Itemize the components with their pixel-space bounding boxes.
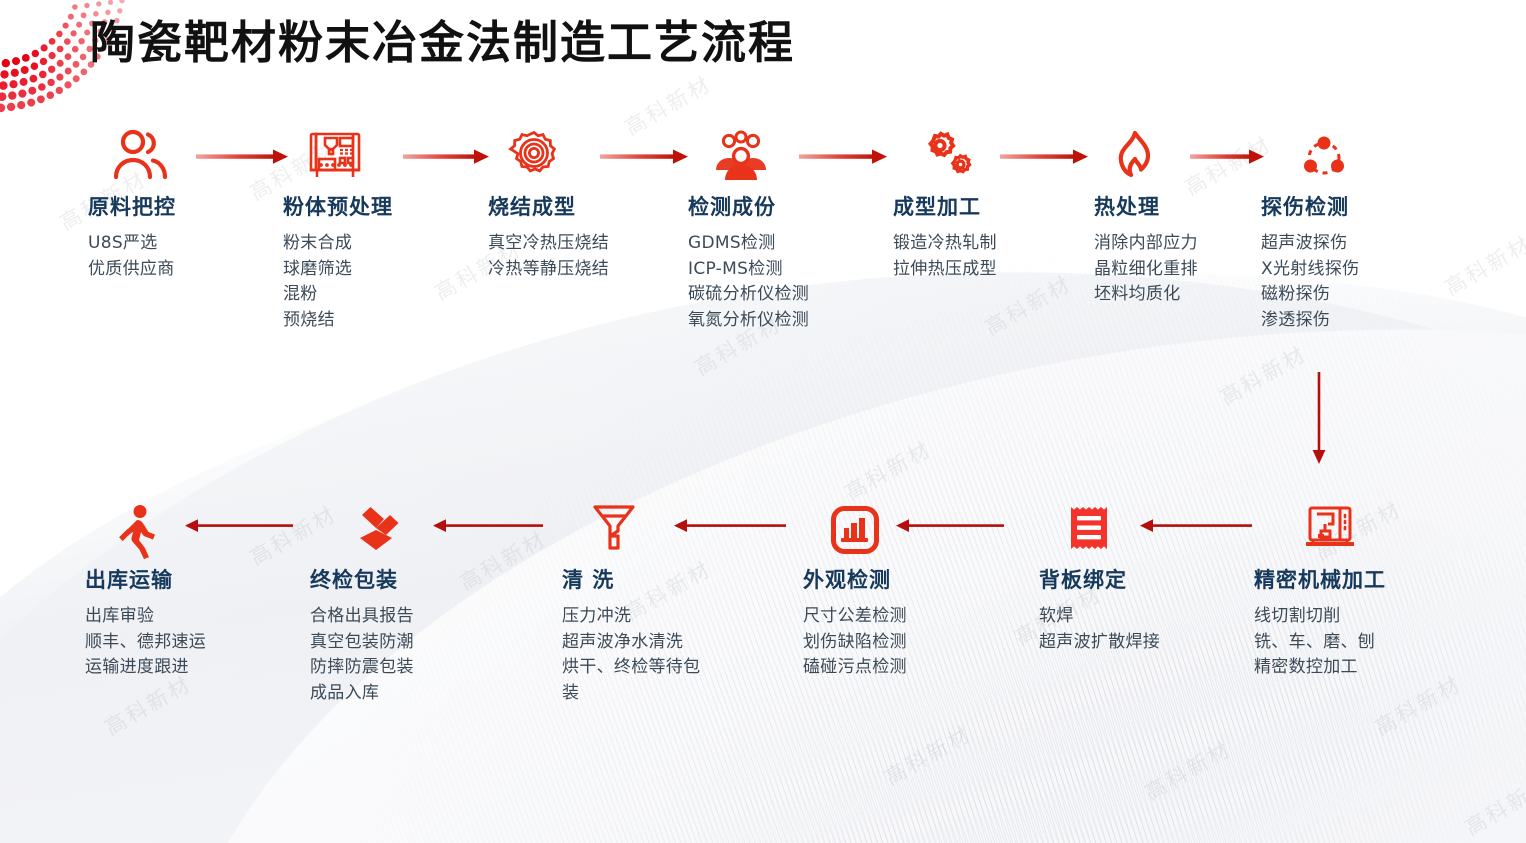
step-detail-item: 超声波扩散焊接 xyxy=(1039,630,1160,656)
flow-arrow-right xyxy=(1190,146,1264,168)
process-step: 成型加工锻造冷热轧制拉伸热压成型 xyxy=(893,125,997,282)
step-detail-item: 装 xyxy=(562,681,700,707)
step-detail-item: 运输进度跟进 xyxy=(85,655,206,681)
step-detail-item: U8S严选 xyxy=(88,231,176,257)
process-step: 检测成份GDMS检测ICP-MS检测碳硫分析仪检测氧氮分析仪检测 xyxy=(688,125,809,333)
step-detail-item: 压力冲洗 xyxy=(562,604,700,630)
flame-outline-icon xyxy=(1094,125,1198,181)
step-title: 出库运输 xyxy=(85,564,206,594)
process-step: 终检包装合格出具报告真空包装防潮防摔防震包装成品入库 xyxy=(310,498,414,706)
process-step: 粉体预处理粉末合成球磨筛选混粉预烧结 xyxy=(283,125,393,333)
step-detail-item: 真空包装防潮 xyxy=(310,630,414,656)
flow-arrow-right xyxy=(1000,146,1088,168)
step-detail-item: 晶粒细化重排 xyxy=(1094,257,1198,283)
step-title: 清 洗 xyxy=(562,564,700,594)
step-detail-list: 粉末合成球磨筛选混粉预烧结 xyxy=(283,231,393,333)
watermark-text: 高科新材 xyxy=(1139,733,1237,807)
step-detail-item: 预烧结 xyxy=(283,308,393,334)
step-detail-item: 烘干、终检等待包 xyxy=(562,655,700,681)
process-step: 精密机械加工线切割切削铣、车、磨、刨精密数控加工 xyxy=(1254,498,1386,681)
step-detail-item: 粉末合成 xyxy=(283,231,393,257)
step-detail-item: 顺丰、德邦速运 xyxy=(85,630,206,656)
flow-arrow-left xyxy=(1140,516,1252,536)
watermark-text: 高科新材 xyxy=(839,433,937,507)
flow-arrow-right xyxy=(196,146,288,168)
step-title: 精密机械加工 xyxy=(1254,564,1386,594)
step-detail-item: 球磨筛选 xyxy=(283,257,393,283)
step-detail-item: 软焊 xyxy=(1039,604,1160,630)
step-detail-item: 出库审验 xyxy=(85,604,206,630)
two-gears-icon xyxy=(893,125,997,181)
flow-arrow-left xyxy=(185,516,293,536)
flow-arrow-right xyxy=(600,146,688,168)
flow-arrow-down xyxy=(1309,372,1329,467)
step-detail-item: 渗透探伤 xyxy=(1261,308,1359,334)
process-step: 热处理消除内部应力晶粒细化重排坯料均质化 xyxy=(1094,125,1198,308)
step-detail-item: ICP-MS检测 xyxy=(688,257,809,283)
step-detail-item: X光射线探伤 xyxy=(1261,257,1359,283)
gear-outline-icon xyxy=(488,125,609,181)
step-detail-item: 优质供应商 xyxy=(88,257,176,283)
step-detail-item: 铣、车、磨、刨 xyxy=(1254,630,1386,656)
watermark-text: 高科新材 xyxy=(1439,228,1526,302)
two-people-outline-icon xyxy=(88,125,176,181)
step-detail-item: 氧氮分析仪检测 xyxy=(688,308,809,334)
step-detail-item: 磁粉探伤 xyxy=(1261,282,1359,308)
step-detail-list: 超声波探伤X光射线探伤磁粉探伤渗透探伤 xyxy=(1261,231,1359,333)
step-detail-item: 拉伸热压成型 xyxy=(893,257,997,283)
step-detail-item: 冷热等静压烧结 xyxy=(488,257,609,283)
step-detail-item: 碳硫分析仪检测 xyxy=(688,282,809,308)
flow-arrow-left xyxy=(674,516,786,536)
flow-arrow-left xyxy=(896,516,1004,536)
step-title: 粉体预处理 xyxy=(283,191,393,221)
step-detail-item: 混粉 xyxy=(283,282,393,308)
machine-outline-icon xyxy=(283,125,393,181)
step-title: 终检包装 xyxy=(310,564,414,594)
page-title: 陶瓷靶材粉末冶金法制造工艺流程 xyxy=(90,6,795,71)
step-detail-list: 软焊超声波扩散焊接 xyxy=(1039,604,1160,655)
step-detail-list: 出库审验顺丰、德邦速运运输进度跟进 xyxy=(85,604,206,681)
cnc-machine-icon xyxy=(1254,498,1386,554)
step-detail-item: 超声波探伤 xyxy=(1261,231,1359,257)
step-detail-list: U8S严选优质供应商 xyxy=(88,231,176,282)
step-detail-item: 防摔防震包装 xyxy=(310,655,414,681)
step-detail-list: 真空冷热压烧结冷热等静压烧结 xyxy=(488,231,609,282)
step-title: 热处理 xyxy=(1094,191,1198,221)
watermark-text: 高科新材 xyxy=(879,718,977,792)
process-step: 外观检测尺寸公差检测划伤缺陷检测磕碰污点检测 xyxy=(803,498,907,681)
people-group-icon xyxy=(688,125,809,181)
step-detail-item: 磕碰污点检测 xyxy=(803,655,907,681)
step-title: 背板绑定 xyxy=(1039,564,1160,594)
step-detail-item: 消除内部应力 xyxy=(1094,231,1198,257)
three-dots-cycle-icon xyxy=(1261,125,1359,181)
factory-badge-icon xyxy=(803,498,907,554)
step-detail-item: 锻造冷热轧制 xyxy=(893,231,997,257)
step-detail-list: 合格出具报告真空包装防潮防摔防震包装成品入库 xyxy=(310,604,414,706)
flow-arrow-left xyxy=(433,516,543,536)
watermark-text: 高科新材 xyxy=(1459,768,1526,842)
step-detail-list: 锻造冷热轧制拉伸热压成型 xyxy=(893,231,997,282)
flow-arrow-right xyxy=(403,146,489,168)
open-box-icon xyxy=(310,498,414,554)
process-step: 原料把控U8S严选优质供应商 xyxy=(88,125,176,282)
process-step: 探伤检测超声波探伤X光射线探伤磁粉探伤渗透探伤 xyxy=(1261,125,1359,333)
step-title: 探伤检测 xyxy=(1261,191,1359,221)
step-title: 烧结成型 xyxy=(488,191,609,221)
step-detail-item: GDMS检测 xyxy=(688,231,809,257)
step-title: 成型加工 xyxy=(893,191,997,221)
step-detail-item: 合格出具报告 xyxy=(310,604,414,630)
step-title: 外观检测 xyxy=(803,564,907,594)
step-detail-item: 精密数控加工 xyxy=(1254,655,1386,681)
flow-arrow-right xyxy=(799,146,887,168)
step-detail-list: GDMS检测ICP-MS检测碳硫分析仪检测氧氮分析仪检测 xyxy=(688,231,809,333)
step-detail-item: 尺寸公差检测 xyxy=(803,604,907,630)
process-step: 烧结成型真空冷热压烧结冷热等静压烧结 xyxy=(488,125,609,282)
step-detail-item: 坯料均质化 xyxy=(1094,282,1198,308)
flow-diagram-canvas: 高科新材高科新材高科新材高科新材高科新材高科新材高科新材高科新材高科新材高科新材… xyxy=(0,0,1526,843)
step-detail-list: 线切割切削铣、车、磨、刨精密数控加工 xyxy=(1254,604,1386,681)
step-detail-list: 消除内部应力晶粒细化重排坯料均质化 xyxy=(1094,231,1198,308)
watermark-text: 高科新材 xyxy=(1214,338,1312,412)
step-detail-item: 真空冷热压烧结 xyxy=(488,231,609,257)
step-detail-list: 尺寸公差检测划伤缺陷检测磕碰污点检测 xyxy=(803,604,907,681)
step-title: 原料把控 xyxy=(88,191,176,221)
step-detail-item: 线切割切削 xyxy=(1254,604,1386,630)
step-title: 检测成份 xyxy=(688,191,809,221)
step-detail-item: 成品入库 xyxy=(310,681,414,707)
step-detail-list: 压力冲洗超声波净水清洗烘干、终检等待包装 xyxy=(562,604,700,706)
step-detail-item: 超声波净水清洗 xyxy=(562,630,700,656)
step-detail-item: 划伤缺陷检测 xyxy=(803,630,907,656)
